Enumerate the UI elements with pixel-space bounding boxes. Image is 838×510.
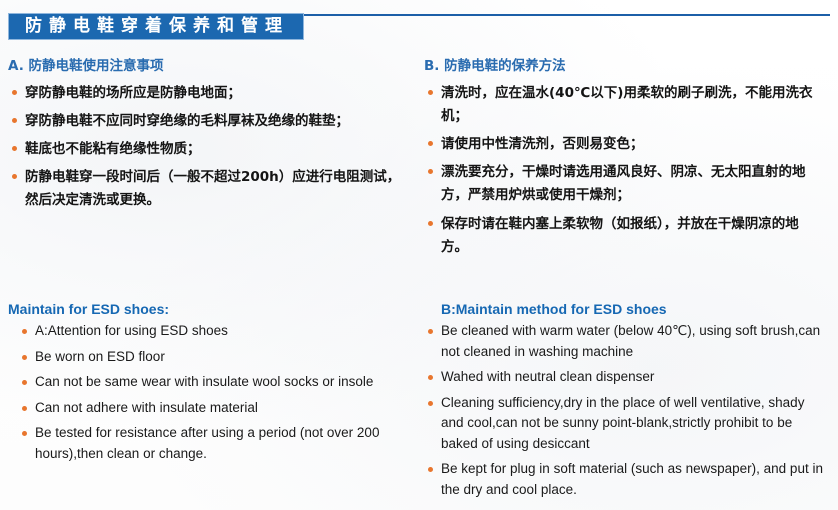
list-item: Be kept for plug in soft material (such … bbox=[424, 459, 828, 500]
list-item: Can not adhere with insulate material bbox=[18, 398, 408, 419]
list-item: Be cleaned with warm water (below 40℃), … bbox=[424, 321, 828, 362]
document-page: 防静电鞋穿着保养和管理 A. 防静电鞋使用注意事项 穿防静电鞋的场所应是防静电地… bbox=[0, 0, 838, 510]
list-item: 漂洗要充分，干燥时请选用通风良好、阴凉、无太阳直射的地方，严禁用炉烘或使用干燥剂… bbox=[424, 161, 824, 207]
list-item: Be worn on ESD floor bbox=[18, 347, 408, 368]
list-item: 请使用中性清洗剂，否则易变色； bbox=[424, 133, 824, 156]
list-item: 防静电鞋穿一段时间后（一般不超过200h）应进行电阻测试，然后决定清洗或更换。 bbox=[8, 166, 408, 212]
page-title: 防静电鞋穿着保养和管理 bbox=[25, 18, 289, 35]
english-right-heading: B:Maintain method for ESD shoes bbox=[424, 300, 828, 318]
list-item: 保存时请在鞋内塞上柔软物（如报纸），并放在干燥阴凉的地方。 bbox=[424, 213, 824, 259]
chinese-right-heading: B. 防静电鞋的保养方法 bbox=[424, 58, 824, 76]
list-item: Can not be same wear with insulate wool … bbox=[18, 372, 408, 393]
list-item: 穿防静电鞋不应同时穿绝缘的毛料厚袜及绝缘的鞋垫； bbox=[8, 110, 408, 133]
list-item: Cleaning sufficiency,dry in the place of… bbox=[424, 393, 828, 455]
list-item: Be tested for resistance after using a p… bbox=[18, 423, 408, 464]
english-right-list: Be cleaned with warm water (below 40℃), … bbox=[424, 321, 828, 500]
list-item: 鞋底也不能粘有绝缘性物质； bbox=[8, 138, 408, 161]
chinese-left-list: 穿防静电鞋的场所应是防静电地面； 穿防静电鞋不应同时穿绝缘的毛料厚袜及绝缘的鞋垫… bbox=[8, 82, 408, 213]
chinese-section-left: A. 防静电鞋使用注意事项 穿防静电鞋的场所应是防静电地面； 穿防静电鞋不应同时… bbox=[8, 58, 408, 218]
title-banner: 防静电鞋穿着保养和管理 bbox=[8, 13, 304, 40]
english-left-list: A:Attention for using ESD shoes Be worn … bbox=[8, 321, 408, 464]
chinese-left-heading: A. 防静电鞋使用注意事项 bbox=[8, 58, 408, 76]
list-item: A:Attention for using ESD shoes bbox=[18, 321, 408, 342]
english-section-left: Maintain for ESD shoes: A:Attention for … bbox=[8, 300, 408, 469]
english-left-heading: Maintain for ESD shoes: bbox=[8, 300, 408, 318]
list-item: Wahed with neutral clean dispenser bbox=[424, 367, 828, 388]
list-item: 穿防静电鞋的场所应是防静电地面； bbox=[8, 82, 408, 105]
list-item: 清洗时，应在温水(40℃以下)用柔软的刷子刷洗，不能用洗衣机； bbox=[424, 82, 824, 128]
english-section-right: B:Maintain method for ESD shoes Be clean… bbox=[424, 300, 828, 505]
chinese-right-list: 清洗时，应在温水(40℃以下)用柔软的刷子刷洗，不能用洗衣机； 请使用中性清洗剂… bbox=[424, 82, 824, 260]
chinese-section-right: B. 防静电鞋的保养方法 清洗时，应在温水(40℃以下)用柔软的刷子刷洗，不能用… bbox=[424, 58, 824, 264]
page-header: 防静电鞋穿着保养和管理 bbox=[0, 0, 838, 46]
